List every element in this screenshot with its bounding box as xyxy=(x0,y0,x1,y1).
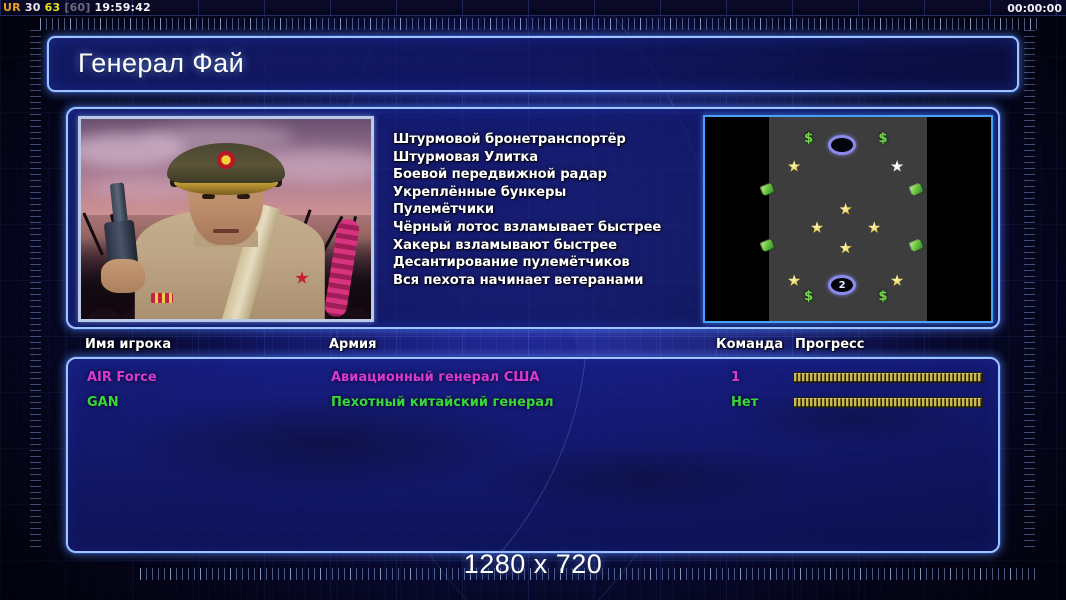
game-screen: UR 30 63 [60] 19:59:42 00:00:00 Генерал … xyxy=(0,0,1066,600)
portrait-medal xyxy=(151,293,173,303)
player-list-panel: AIR Force Авиационный генерал США 1 GAN … xyxy=(66,357,1000,553)
title-panel: Генерал Фай xyxy=(47,36,1019,92)
player-list-inner: AIR Force Авиационный генерал США 1 GAN … xyxy=(68,359,998,551)
header-team: Команда xyxy=(716,337,783,352)
portrait-eye-right xyxy=(237,194,250,199)
map-cash-icon: $ xyxy=(878,290,887,303)
status-value-2: 63 xyxy=(45,1,61,14)
portrait-cap-badge xyxy=(217,151,235,169)
player-army: Пехотный китайский генерал xyxy=(331,395,554,410)
player-name: AIR Force xyxy=(87,370,157,385)
table-row[interactable]: GAN Пехотный китайский генерал Нет xyxy=(68,390,998,415)
general-bonus-list: Штурмовой бронетранспортёр Штурмовая Ули… xyxy=(393,131,693,289)
status-value-1: 30 xyxy=(25,1,41,14)
top-status-bar: UR 30 63 [60] 19:59:42 00:00:00 xyxy=(0,0,1066,16)
table-row[interactable]: AIR Force Авиационный генерал США 1 xyxy=(68,365,998,390)
status-bar-grid xyxy=(0,0,1066,15)
general-portrait xyxy=(78,116,374,322)
map-cash-icon: $ xyxy=(878,132,887,145)
map-cash-icon: $ xyxy=(804,132,813,145)
map-start-position-label: 2 xyxy=(831,278,853,292)
general-info-panel: Штурмовой бронетранспортёр Штурмовая Ули… xyxy=(66,107,1000,329)
player-progress-bar xyxy=(793,397,983,408)
bonus-item: Боевой передвижной радар xyxy=(393,166,693,184)
map-start-position[interactable] xyxy=(828,135,856,155)
status-time: 19:59:42 xyxy=(95,1,151,14)
ruler-top xyxy=(40,18,1040,30)
bonus-item: Пулемётчики xyxy=(393,201,693,219)
status-bar-right: 00:00:00 xyxy=(1007,0,1062,16)
header-player-name: Имя игрока xyxy=(85,337,171,352)
bonus-item: Десантирование пулемётчиков xyxy=(393,254,693,272)
player-team: 1 xyxy=(731,370,740,385)
resolution-overlay: 1280 x 720 xyxy=(0,549,1066,580)
status-value-3: [60] xyxy=(64,1,90,14)
bonus-item: Вся пехота начинает ветеранами xyxy=(393,272,693,290)
page-title: Генерал Фай xyxy=(78,48,244,79)
bonus-item: Штурмовой бронетранспортёр xyxy=(393,131,693,149)
portrait-mouth xyxy=(213,229,239,233)
ruler-right xyxy=(1024,30,1035,550)
player-progress-bar xyxy=(793,372,983,383)
header-army: Армия xyxy=(329,337,376,352)
map-preview[interactable]: $$$$2 xyxy=(703,115,993,323)
ruler-left xyxy=(30,30,41,550)
header-progress: Прогресс xyxy=(795,337,864,352)
portrait-hand xyxy=(101,259,145,293)
player-team: Нет xyxy=(731,395,758,410)
player-name: GAN xyxy=(87,395,119,410)
status-label: UR xyxy=(3,1,21,14)
player-table-headers: Имя игрока Армия Команда Прогресс xyxy=(66,337,1000,357)
bonus-item: Хакеры взламывают быстрее xyxy=(393,237,693,255)
status-clock: 00:00:00 xyxy=(1007,2,1062,15)
portrait-eye-left xyxy=(202,194,215,199)
bonus-item: Чёрный лотос взламывает быстрее xyxy=(393,219,693,237)
bonus-item: Укреплённые бункеры xyxy=(393,184,693,202)
status-bar-left: UR 30 63 [60] 19:59:42 xyxy=(0,1,151,14)
bonus-item: Штурмовая Улитка xyxy=(393,149,693,167)
player-army: Авиационный генерал США xyxy=(331,370,539,385)
map-cash-icon: $ xyxy=(804,290,813,303)
